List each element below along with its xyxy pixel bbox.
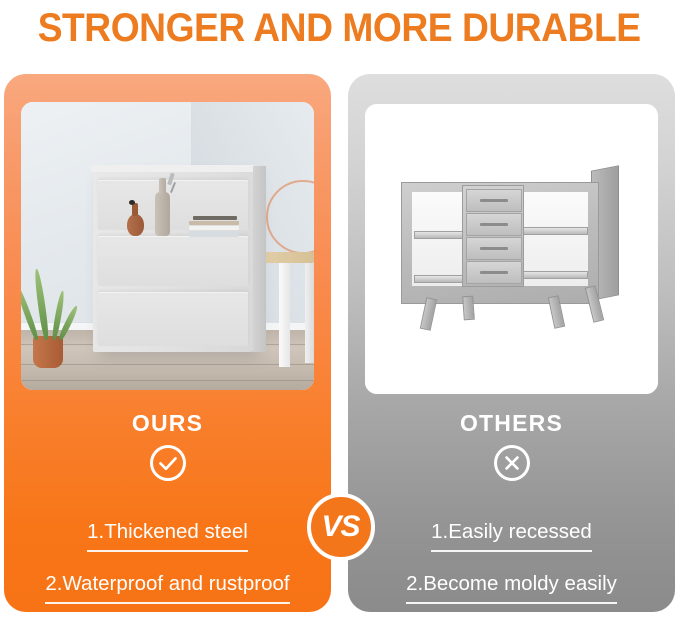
sideboard-drawer xyxy=(466,189,522,212)
comparison-panels: OURS 1.Thickened steel 2.Waterproof and … xyxy=(0,74,679,618)
sideboard-drawer-column xyxy=(462,185,524,287)
plant-pot xyxy=(33,336,63,368)
others-bullet-list: 1.Easily recessed 2.Become moldy easily xyxy=(348,519,675,604)
list-item: 1.Easily recessed xyxy=(431,519,592,552)
round-vase xyxy=(127,214,144,236)
cabinet-side xyxy=(253,166,266,352)
book-stack xyxy=(189,216,239,236)
ours-bullet-list: 1.Thickened steel 2.Waterproof and rustp… xyxy=(4,519,331,604)
list-item: 2.Become moldy easily xyxy=(406,571,617,604)
sideboard-body xyxy=(401,182,599,304)
sideboard-drawer xyxy=(466,261,522,284)
x-circle-icon xyxy=(494,445,530,481)
sideboard-drawer xyxy=(466,213,522,236)
tall-vase xyxy=(155,192,170,236)
gray-wooden-sideboard xyxy=(401,182,619,314)
ours-heading: OURS xyxy=(4,410,331,437)
room-scene xyxy=(21,102,314,390)
sideboard-scene xyxy=(365,104,658,394)
cabinet-top-surface xyxy=(91,165,255,172)
check-circle-icon xyxy=(150,445,186,481)
page-title: STRONGER AND MORE DURABLE xyxy=(38,8,641,48)
white-file-cabinet xyxy=(93,170,253,352)
panel-ours: OURS 1.Thickened steel 2.Waterproof and … xyxy=(4,74,331,612)
desk-top xyxy=(262,252,314,263)
cabinet-drawer xyxy=(98,292,248,346)
desk-leg xyxy=(279,263,290,367)
list-item: 2.Waterproof and rustproof xyxy=(45,571,289,604)
sideboard-shelf xyxy=(522,227,588,235)
cabinet-drawer xyxy=(98,236,248,286)
list-item: 1.Thickened steel xyxy=(87,519,248,552)
desk-leg-back xyxy=(305,263,314,363)
vs-badge: VS xyxy=(307,493,375,561)
vs-label: VS xyxy=(321,512,359,542)
sideboard-shelf xyxy=(414,231,464,239)
others-heading: OTHERS xyxy=(348,410,675,437)
sideboard-shelf xyxy=(414,275,464,283)
sideboard-drawer xyxy=(466,237,522,260)
ours-product-photo xyxy=(21,102,314,390)
others-product-photo xyxy=(365,104,658,394)
sideboard-leg xyxy=(462,296,475,321)
page-title-bar: STRONGER AND MORE DURABLE xyxy=(0,0,679,56)
panel-others: OTHERS 1.Easily recessed 2.Become moldy … xyxy=(348,74,675,612)
sideboard-shelf xyxy=(522,271,588,279)
